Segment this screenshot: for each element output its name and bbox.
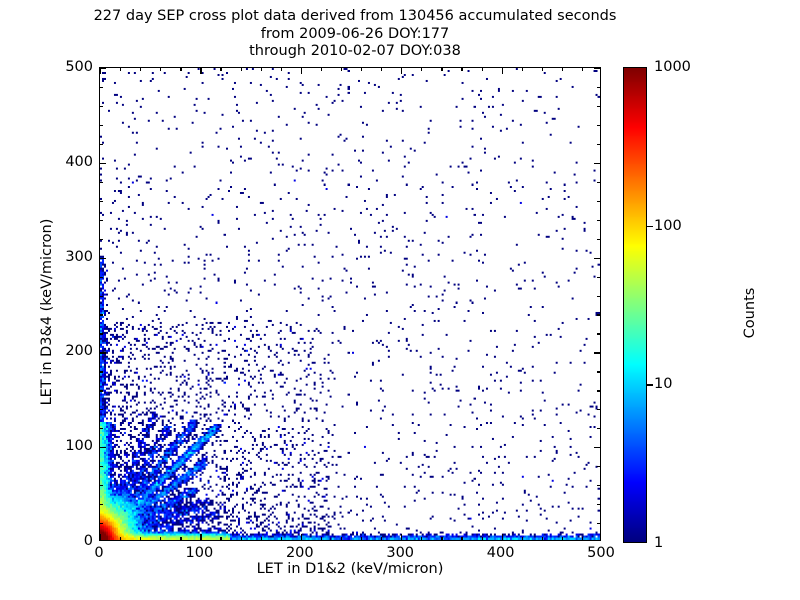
y-axis-minor-tick <box>597 239 600 240</box>
y-axis-minor-tick <box>100 87 103 88</box>
x-axis-minor-tick <box>542 537 543 540</box>
y-axis-minor-tick <box>597 333 600 334</box>
x-axis-tick <box>200 534 201 540</box>
x-axis-tick-label: 400 <box>487 545 515 561</box>
x-axis-minor-tick <box>421 68 422 71</box>
plot-axes <box>99 67 601 541</box>
x-axis-minor-tick <box>220 537 221 540</box>
y-axis-minor-tick <box>100 428 103 429</box>
x-axis-minor-tick <box>461 68 462 71</box>
y-axis-minor-tick <box>597 504 600 505</box>
x-axis-tick <box>301 68 302 74</box>
y-axis-minor-tick <box>597 201 600 202</box>
y-axis-minor-tick <box>597 466 600 467</box>
x-axis-tick <box>301 534 302 540</box>
x-axis-minor-tick <box>482 537 483 540</box>
y-axis-tick <box>594 352 600 353</box>
y-axis-minor-tick <box>100 239 103 240</box>
y-axis-minor-tick <box>597 409 600 410</box>
y-axis-minor-tick <box>100 125 103 126</box>
chart-title-line-2: from 2009-06-26 DOY:177 <box>0 26 710 44</box>
x-axis-minor-tick <box>341 68 342 71</box>
y-axis-minor-tick <box>597 371 600 372</box>
x-axis-label: LET in D1&2 (keV/micron) <box>99 561 601 577</box>
x-axis-minor-tick <box>482 68 483 71</box>
x-axis-minor-tick <box>321 537 322 540</box>
x-axis-tick-label: 500 <box>587 545 615 561</box>
figure-canvas: 227 day SEP cross plot data derived from… <box>0 0 800 600</box>
y-axis-tick <box>594 68 600 69</box>
y-axis-tick <box>100 68 106 69</box>
colorbar-tick <box>647 384 653 385</box>
y-axis-minor-tick <box>100 201 103 202</box>
y-axis-minor-tick <box>597 87 600 88</box>
x-axis-tick-label: 300 <box>386 545 414 561</box>
x-axis-minor-tick <box>582 68 583 71</box>
x-axis-minor-tick <box>140 537 141 540</box>
y-axis-minor-tick <box>100 390 103 391</box>
colorbar-label: Counts <box>742 163 758 463</box>
x-axis-tick <box>502 68 503 74</box>
y-axis-minor-tick <box>100 409 103 410</box>
x-axis-minor-tick <box>220 68 221 71</box>
x-axis-tick-label: 100 <box>186 545 214 561</box>
x-axis-minor-tick <box>341 537 342 540</box>
x-axis-minor-tick <box>421 537 422 540</box>
colorbar <box>623 67 647 543</box>
x-axis-minor-tick <box>522 537 523 540</box>
x-axis-minor-tick <box>562 68 563 71</box>
colorbar-tick-label: 100 <box>654 218 682 234</box>
y-axis-tick <box>100 447 106 448</box>
x-axis-minor-tick <box>241 537 242 540</box>
y-axis-minor-tick <box>100 220 103 221</box>
x-axis-minor-tick <box>160 68 161 71</box>
x-axis-minor-tick <box>461 537 462 540</box>
colorbar-tick-label: 1 <box>654 535 663 551</box>
y-axis-minor-tick <box>100 182 103 183</box>
x-axis-minor-tick <box>281 68 282 71</box>
x-axis-minor-tick <box>582 537 583 540</box>
x-axis-minor-tick <box>361 537 362 540</box>
x-axis-tick <box>502 534 503 540</box>
y-axis-minor-tick <box>597 106 600 107</box>
y-axis-tick <box>594 163 600 164</box>
y-axis-minor-tick <box>597 296 600 297</box>
x-axis-minor-tick <box>381 68 382 71</box>
chart-title-line-3: through 2010-02-07 DOY:038 <box>0 43 710 61</box>
x-axis-tick <box>401 68 402 74</box>
x-axis-minor-tick <box>160 537 161 540</box>
y-axis-tick-label: 500 <box>35 59 93 75</box>
y-axis-minor-tick <box>597 220 600 221</box>
y-axis-label: LET in D3&4 (keV/micron) <box>39 75 55 549</box>
y-axis-tick <box>100 258 106 259</box>
x-axis-minor-tick <box>441 537 442 540</box>
y-axis-minor-tick <box>597 277 600 278</box>
x-axis-minor-tick <box>140 68 141 71</box>
x-axis-minor-tick <box>522 68 523 71</box>
y-axis-tick <box>100 163 106 164</box>
x-axis-minor-tick <box>261 537 262 540</box>
x-axis-minor-tick <box>180 68 181 71</box>
y-axis-minor-tick <box>100 523 103 524</box>
y-axis-minor-tick <box>597 523 600 524</box>
y-axis-minor-tick <box>597 182 600 183</box>
y-axis-minor-tick <box>597 390 600 391</box>
colorbar-gradient <box>624 68 646 542</box>
y-axis-minor-tick <box>597 428 600 429</box>
x-axis-minor-tick <box>261 68 262 71</box>
chart-title-line-1: 227 day SEP cross plot data derived from… <box>0 8 710 26</box>
x-axis-minor-tick <box>281 537 282 540</box>
y-axis-minor-tick <box>100 144 103 145</box>
y-axis-minor-tick <box>100 314 103 315</box>
colorbar-tick-label: 10 <box>654 376 672 392</box>
x-axis-tick-label: 0 <box>94 545 103 561</box>
y-axis-tick <box>594 258 600 259</box>
y-axis-minor-tick <box>100 106 103 107</box>
colorbar-tick-label: 1000 <box>654 59 691 75</box>
y-axis-minor-tick <box>100 333 103 334</box>
x-axis-minor-tick <box>381 537 382 540</box>
y-axis-minor-tick <box>597 314 600 315</box>
x-axis-minor-tick <box>241 68 242 71</box>
x-axis-tick <box>100 534 101 540</box>
x-axis-tick <box>200 68 201 74</box>
y-axis-minor-tick <box>100 371 103 372</box>
y-axis-minor-tick <box>100 277 103 278</box>
x-axis-tick-label: 200 <box>286 545 314 561</box>
chart-title: 227 day SEP cross plot data derived from… <box>0 8 710 61</box>
y-axis-minor-tick <box>100 466 103 467</box>
y-axis-minor-tick <box>100 504 103 505</box>
x-axis-minor-tick <box>321 68 322 71</box>
scatter-density-plot <box>100 68 600 540</box>
x-axis-minor-tick <box>562 537 563 540</box>
x-axis-minor-tick <box>120 68 121 71</box>
x-axis-minor-tick <box>120 537 121 540</box>
colorbar-tick <box>647 226 653 227</box>
y-axis-tick <box>594 447 600 448</box>
x-axis-minor-tick <box>180 537 181 540</box>
y-axis-minor-tick <box>100 296 103 297</box>
x-axis-tick <box>401 534 402 540</box>
x-axis-minor-tick <box>542 68 543 71</box>
y-axis-minor-tick <box>597 485 600 486</box>
y-axis-minor-tick <box>100 485 103 486</box>
y-axis-minor-tick <box>597 144 600 145</box>
y-axis-minor-tick <box>597 125 600 126</box>
x-axis-minor-tick <box>361 68 362 71</box>
x-axis-minor-tick <box>441 68 442 71</box>
y-axis-tick <box>100 352 106 353</box>
